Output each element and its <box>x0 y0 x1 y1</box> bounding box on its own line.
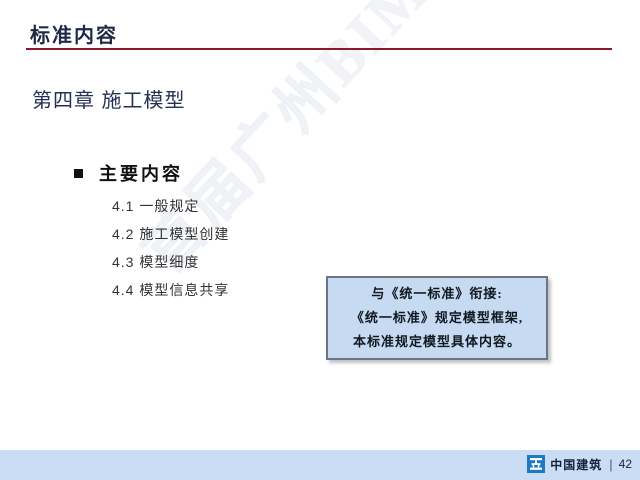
list-item[interactable]: 4.2 施工模型创建 <box>112 220 229 248</box>
brand-name-label: 中国建筑 <box>550 456 602 473</box>
watermark: 首届广州BIM论坛 <box>0 0 640 480</box>
page-number: 42 <box>619 457 632 471</box>
callout-line: 《统一标准》规定模型框架, <box>351 306 523 330</box>
list-item[interactable]: 4.4 模型信息共享 <box>112 276 229 304</box>
callout-line: 本标准规定模型具体内容。 <box>353 330 521 354</box>
list-item[interactable]: 4.3 模型细度 <box>112 248 229 276</box>
slide-canvas: 首届广州BIM论坛 标准内容 第四章 施工模型 主要内容 4.1 一般规定 4.… <box>0 0 640 480</box>
section-heading-label: 主要内容 <box>99 160 183 186</box>
footer-brand: 中国建筑 | 42 <box>527 455 632 473</box>
section-heading: 主要内容 <box>74 160 183 186</box>
brand-separator: | <box>609 457 612 472</box>
square-bullet-icon <box>74 169 83 178</box>
content-list: 4.1 一般规定 4.2 施工模型创建 4.3 模型细度 4.4 模型信息共享 <box>112 192 229 304</box>
callout-box: 与《统一标准》衔接: 《统一标准》规定模型框架, 本标准规定模型具体内容。 <box>326 276 548 360</box>
header-divider <box>26 48 612 50</box>
chapter-heading: 第四章 施工模型 <box>32 84 186 113</box>
list-item[interactable]: 4.1 一般规定 <box>112 192 229 220</box>
callout-line: 与《统一标准》衔接: <box>371 282 502 306</box>
page-title: 标准内容 <box>30 19 118 48</box>
cscec-logo-icon <box>527 455 545 473</box>
